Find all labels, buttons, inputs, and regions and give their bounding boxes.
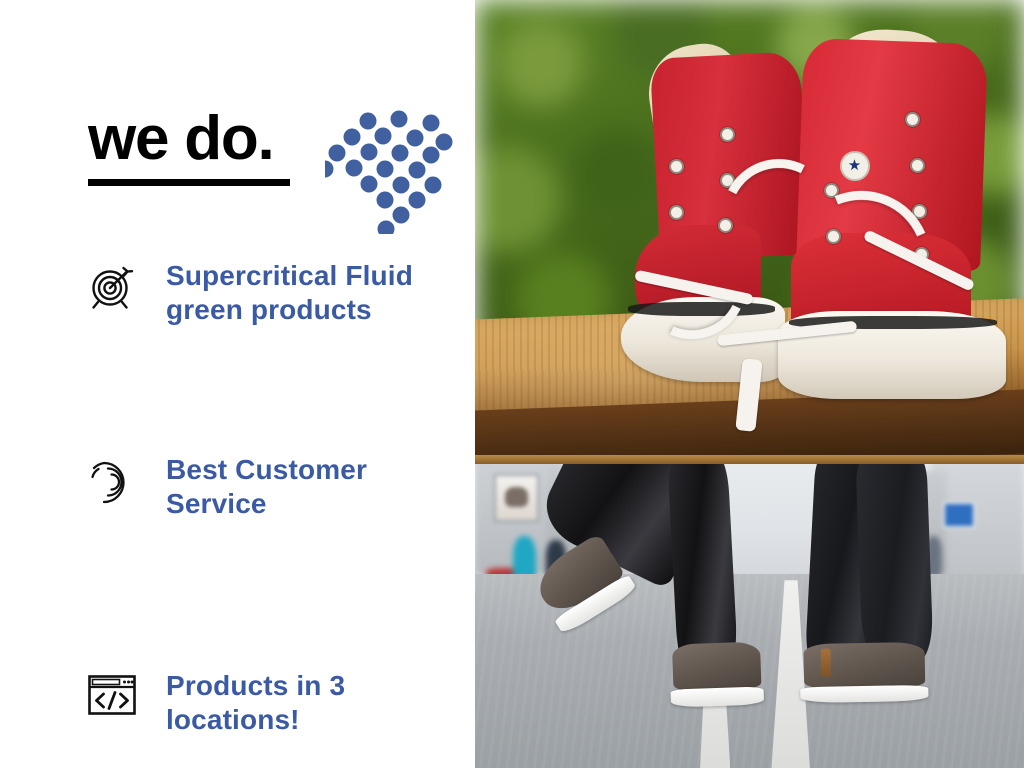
feature-label-3: Products in 3 locations! xyxy=(166,668,472,737)
left-content-panel: we do. xyxy=(0,0,475,768)
street-sign xyxy=(943,502,974,528)
feature-item-2: Best Customer Service xyxy=(82,452,472,521)
feature-label-1: Supercritical Fluid green products xyxy=(166,258,472,327)
target-arrow-icon xyxy=(82,258,142,316)
feature-item-3: Products in 3 locations! xyxy=(82,668,472,737)
feature-label-2: Best Customer Service xyxy=(166,452,472,521)
code-window-icon xyxy=(82,668,142,726)
street-couple-photo xyxy=(475,455,1024,768)
wood-ledge-sliver xyxy=(475,455,1024,464)
leg-man-right xyxy=(856,455,935,663)
eyelet xyxy=(720,127,735,142)
sneaker-sole xyxy=(801,685,929,704)
page-title: we do. xyxy=(88,108,273,170)
sneaker-sole xyxy=(671,686,765,707)
sound-waves-ear-icon xyxy=(82,452,142,510)
dot-triangle-logo xyxy=(325,110,453,234)
red-sneakers-photo: ★ xyxy=(475,0,1024,455)
photo-panel: ★ xyxy=(475,0,1024,768)
sneaker-tab xyxy=(821,648,831,677)
brown-sneaker-man xyxy=(804,642,926,704)
eyelet xyxy=(910,158,925,173)
headline-underline xyxy=(88,179,290,186)
sneaker-upper xyxy=(672,641,761,690)
street-poster xyxy=(494,474,539,522)
brown-sneaker-standing xyxy=(672,641,762,707)
headline-block: we do. xyxy=(88,108,458,238)
sneaker-sole xyxy=(778,311,1006,400)
slide-canvas: we do. xyxy=(0,0,1024,768)
star-logo-badge: ★ xyxy=(840,151,870,181)
feature-item-1: Supercritical Fluid green products xyxy=(82,258,472,327)
